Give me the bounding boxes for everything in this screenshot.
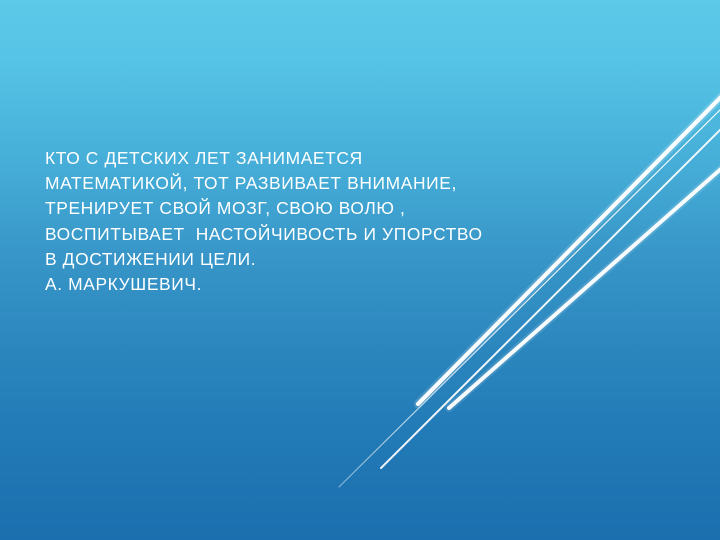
quote-attribution: А. МАРКУШЕВИЧ. <box>45 272 585 297</box>
quote-line-1: КТО С ДЕТСКИХ ЛЕТ ЗАНИМАЕТСЯ <box>45 146 585 171</box>
quote-line-2: МАТЕМАТИКОЙ, ТОТ РАЗВИВАЕТ ВНИМАНИЕ, <box>45 171 585 196</box>
slide-canvas: КТО С ДЕТСКИХ ЛЕТ ЗАНИМАЕТСЯ МАТЕМАТИКОЙ… <box>0 0 720 540</box>
quote-line-5: В ДОСТИЖЕНИИ ЦЕЛИ. <box>45 247 585 272</box>
quote-text-block: КТО С ДЕТСКИХ ЛЕТ ЗАНИМАЕТСЯ МАТЕМАТИКОЙ… <box>45 146 585 297</box>
quote-line-3: ТРЕНИРУЕТ СВОЙ МОЗГ, СВОЮ ВОЛЮ , <box>45 196 585 221</box>
quote-line-4: ВОСПИТЫВАЕТ НАСТОЙЧИВОСТЬ И УПОРСТВО <box>45 222 585 247</box>
